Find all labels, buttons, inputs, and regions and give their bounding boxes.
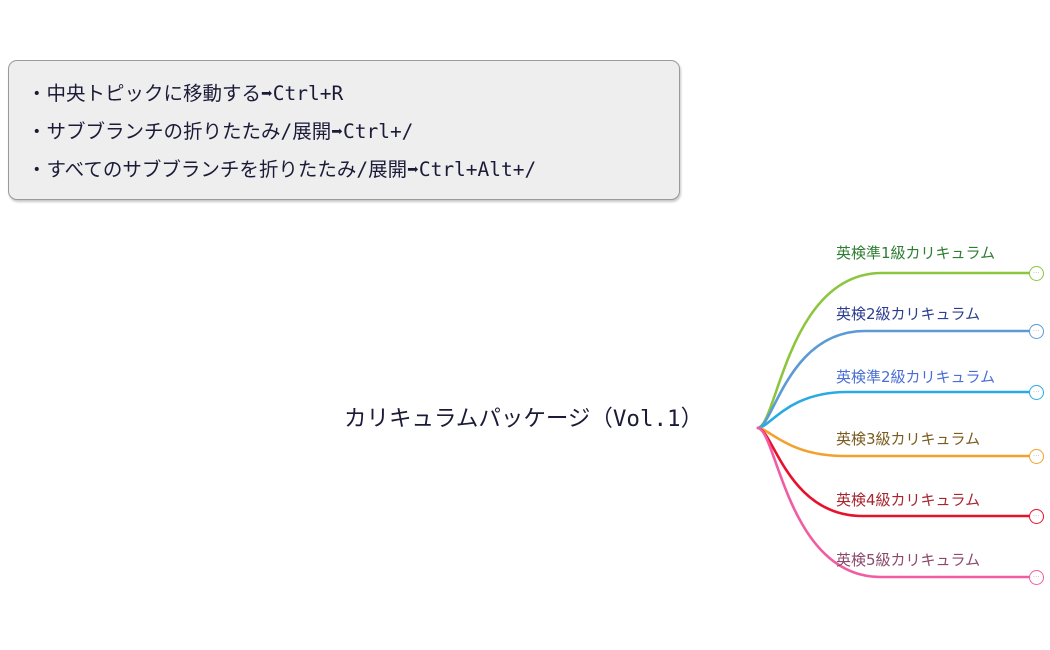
collapse-indicator-2[interactable]: … (1029, 324, 1044, 339)
branch-label-2[interactable]: 英検2級カリキュラム (836, 304, 980, 324)
branch-label-4[interactable]: 英検3級カリキュラム (836, 429, 980, 449)
collapse-indicator-3[interactable]: … (1029, 385, 1044, 400)
branch-line[interactable] (758, 392, 1030, 428)
collapse-indicator-4[interactable]: … (1029, 449, 1044, 464)
central-topic[interactable]: カリキュラムパッケージ（Vol.1） (344, 404, 703, 434)
collapse-indicator-5[interactable]: … (1029, 509, 1044, 524)
collapse-indicator-1[interactable]: … (1029, 266, 1044, 281)
branch-label-5[interactable]: 英検4級カリキュラム (836, 490, 980, 510)
branch-label-6[interactable]: 英検5級カリキュラム (836, 550, 980, 570)
branch-line[interactable] (758, 273, 1030, 428)
branch-label-3[interactable]: 英検準2級カリキュラム (836, 367, 995, 387)
collapse-indicator-6[interactable]: … (1029, 570, 1044, 585)
mindmap-canvas: カリキュラムパッケージ（Vol.1） 英検準1級カリキュラム英検2級カリキュラム… (0, 0, 1050, 650)
branch-label-1[interactable]: 英検準1級カリキュラム (836, 243, 995, 263)
